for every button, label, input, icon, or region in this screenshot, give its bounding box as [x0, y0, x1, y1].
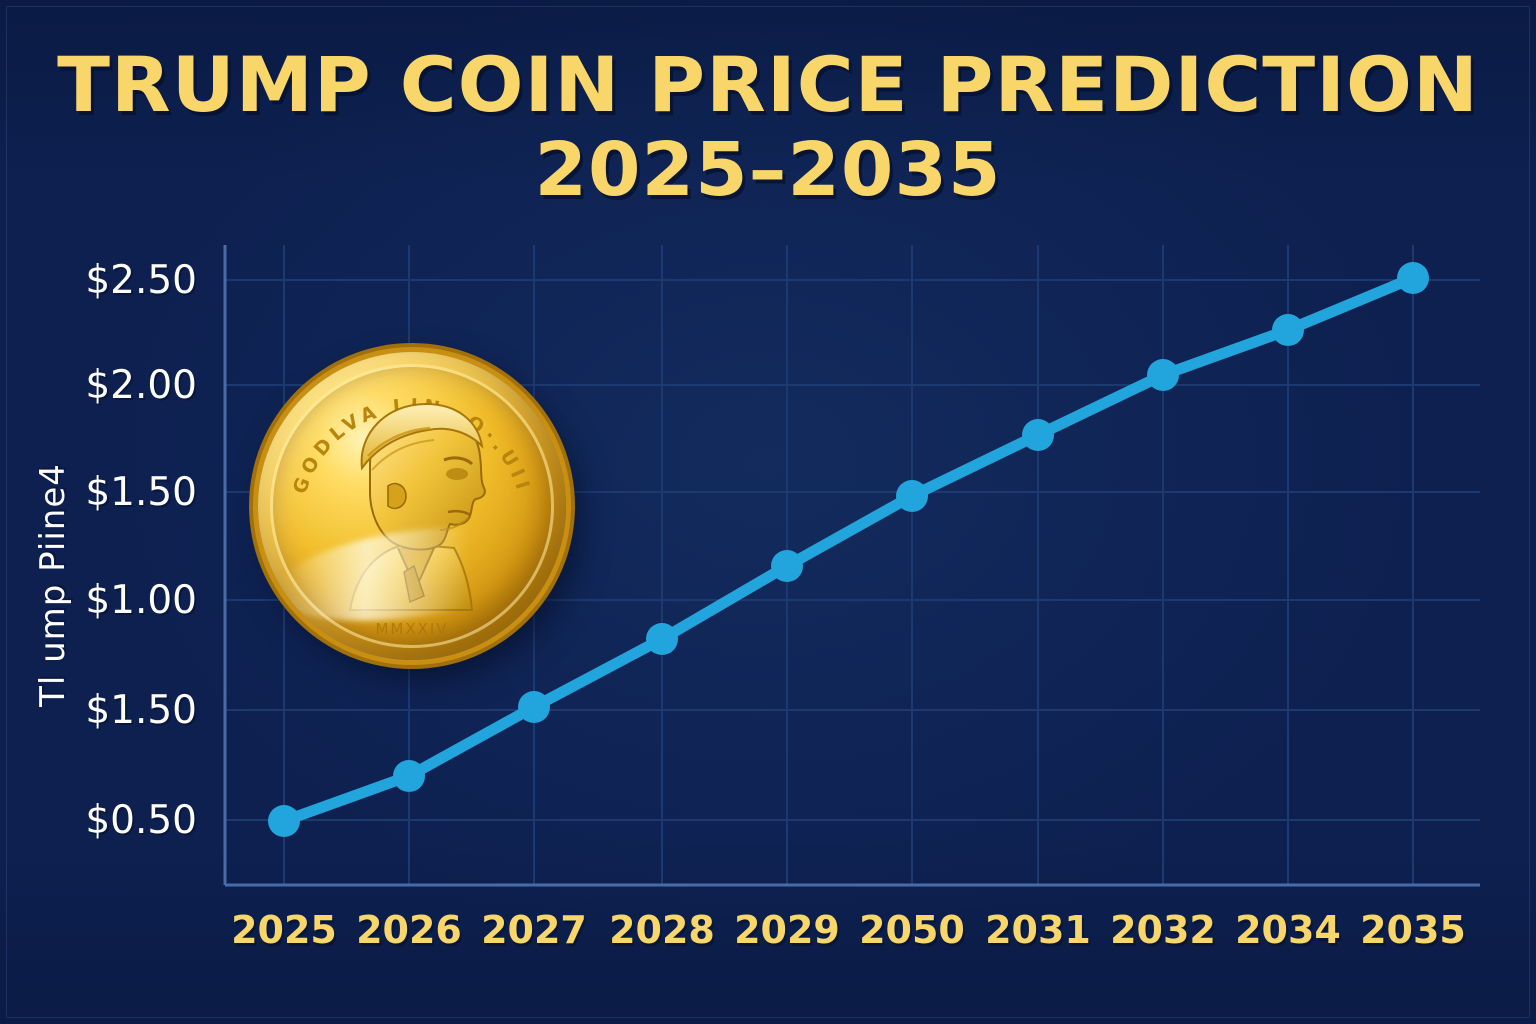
- data-point[interactable]: [1272, 314, 1304, 346]
- data-point[interactable]: [771, 550, 803, 582]
- data-point[interactable]: [268, 805, 300, 837]
- gold-trump-coin-icon: GODLVA LIN ·O·.UII: [258, 352, 566, 660]
- chart-canvas: [0, 0, 1536, 1024]
- data-point[interactable]: [1022, 419, 1054, 451]
- coin-date-text: MMXXIV: [258, 620, 566, 638]
- y-tick-label: $2.00: [37, 363, 197, 408]
- price-prediction-chart: $2.50 $2.00 $1.50 $1.00 $1.50 $0.50 Tl u…: [0, 0, 1536, 1024]
- data-point[interactable]: [518, 691, 550, 723]
- x-tick-label: 2035: [1333, 908, 1493, 952]
- data-point[interactable]: [1147, 359, 1179, 391]
- data-point[interactable]: [646, 623, 678, 655]
- data-point[interactable]: [1397, 262, 1429, 294]
- y-axis-title: Tl ump Piine4: [33, 440, 73, 730]
- y-tick-label: $0.50: [37, 798, 197, 843]
- data-point[interactable]: [896, 480, 928, 512]
- y-tick-label: $2.50: [37, 258, 197, 303]
- data-point[interactable]: [393, 760, 425, 792]
